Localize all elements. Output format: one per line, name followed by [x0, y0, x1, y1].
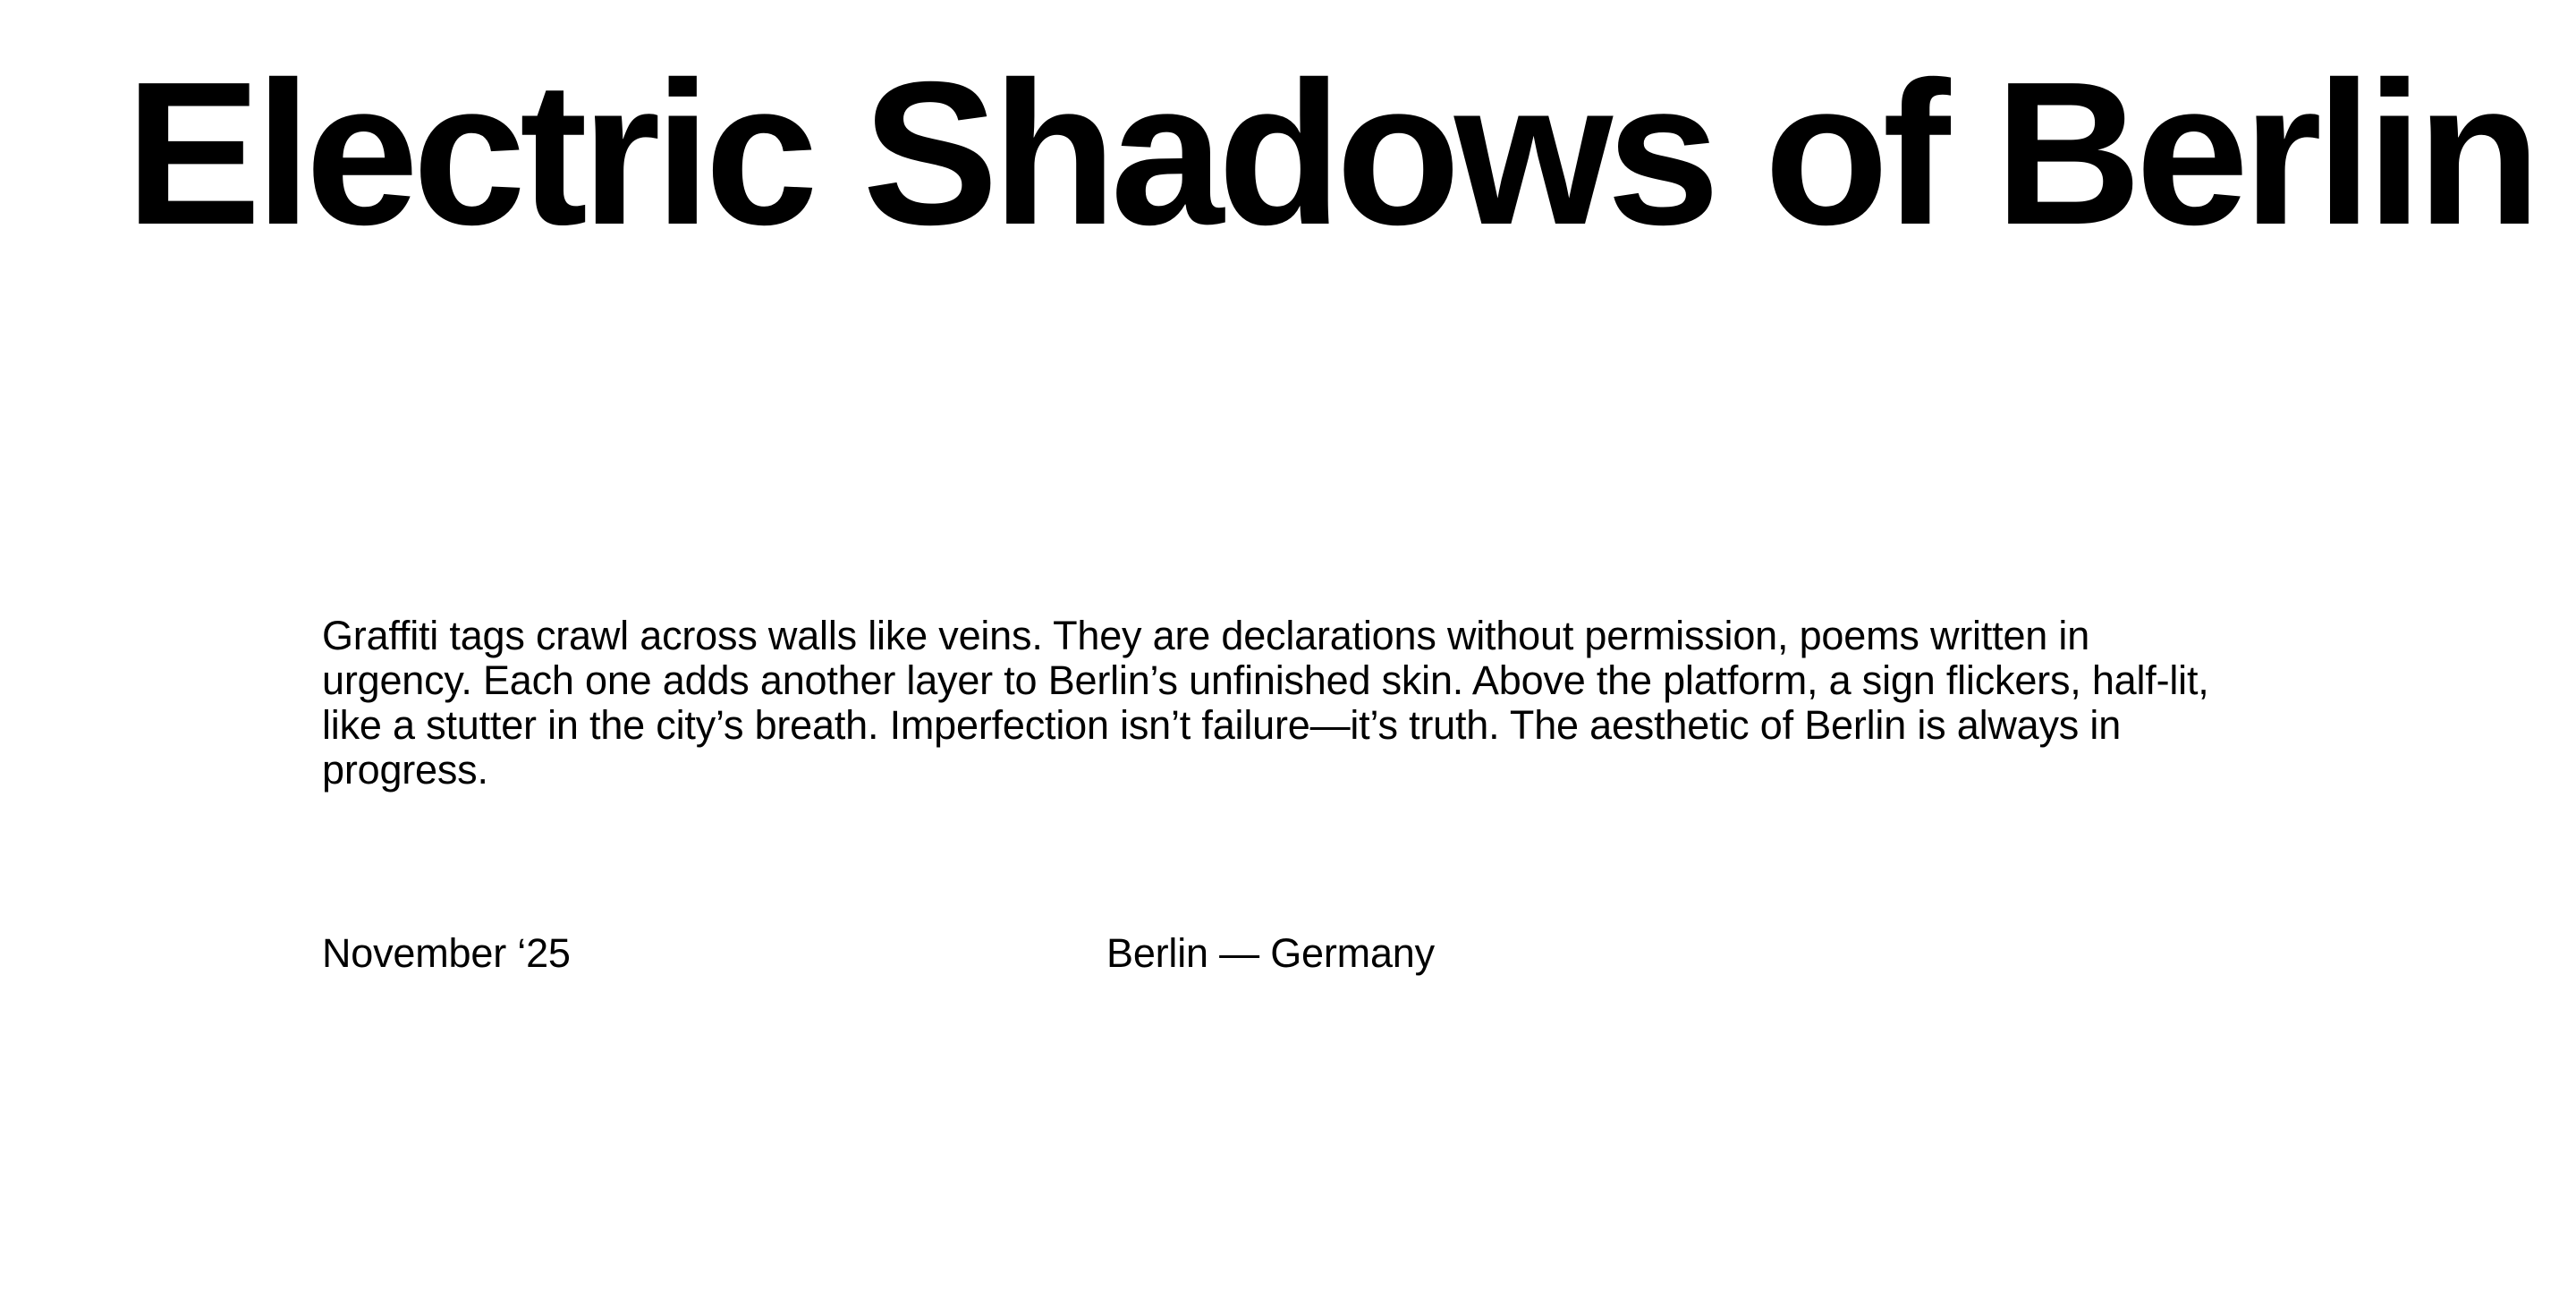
meta-date: November ‘25 — [322, 928, 571, 979]
meta-location: Berlin — Germany — [1106, 928, 1435, 979]
article-paragraph: Graffiti tags crawl across walls like ve… — [322, 614, 2245, 793]
masthead: Electric Shadows of Berlin — [125, 52, 2487, 256]
meta-row: November ‘25 Berlin — Germany — [322, 928, 2245, 979]
page-title: Electric Shadows of Berlin — [125, 52, 2487, 256]
article-body: Graffiti tags crawl across walls like ve… — [322, 614, 2245, 793]
editorial-page: Electric Shadows of Berlin Graffiti tags… — [0, 0, 2576, 1297]
